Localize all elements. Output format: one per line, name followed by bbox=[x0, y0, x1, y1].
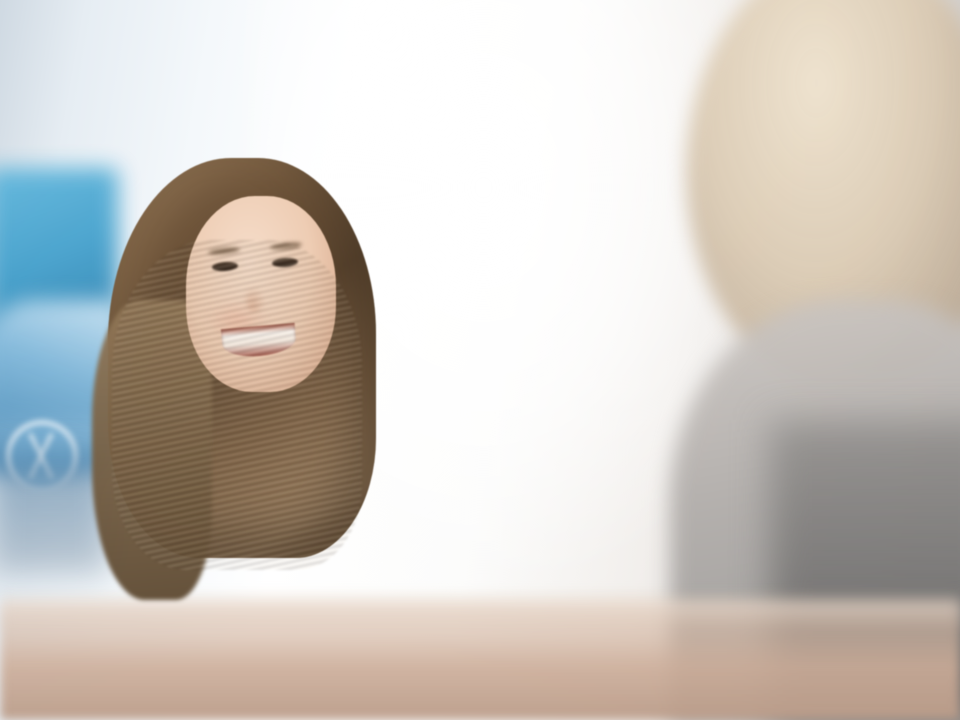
guiding-principles-graphic: FLOW AUTOMOTIVE FLOW bbox=[0, 0, 960, 720]
counter-surface bbox=[0, 588, 960, 720]
background-photo: FLOW AUTOMOTIVE FLOW bbox=[0, 0, 960, 720]
subject-neck bbox=[214, 370, 310, 480]
